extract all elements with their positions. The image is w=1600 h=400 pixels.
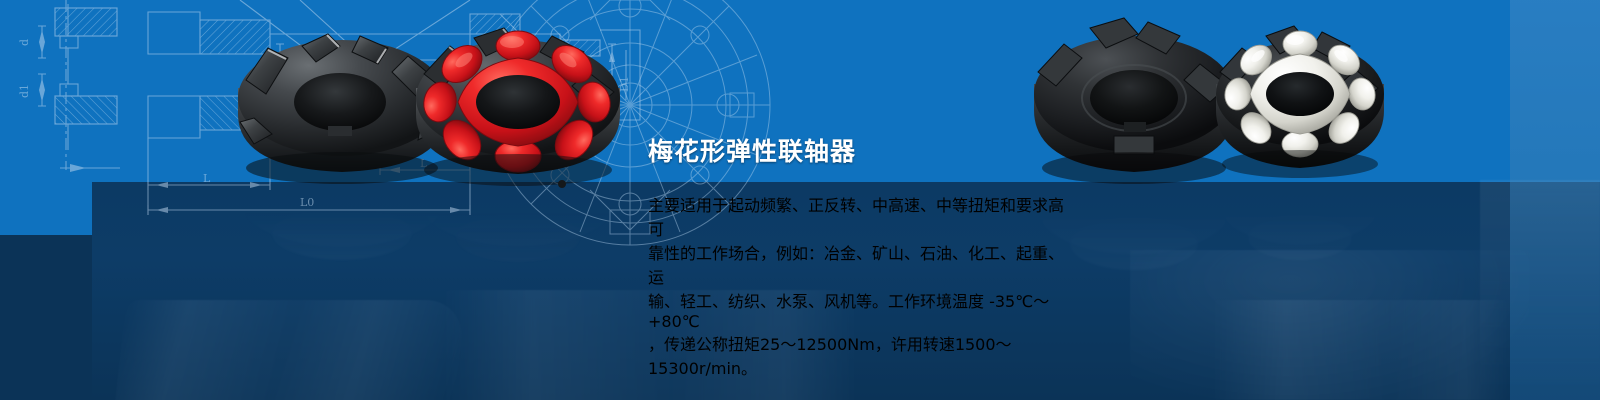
reflection-red-coupling <box>412 184 624 304</box>
svg-text:d1: d1 <box>18 84 31 98</box>
description-line-1: 主要适用于起动频繁、正反转、中高速、中等扭矩和要求高可 <box>648 192 1068 240</box>
description-line-2: 靠性的工作场合，例如：冶金、矿山、石油、化工、起重、运 <box>648 240 1068 288</box>
reflection-white-coupling <box>1210 184 1390 304</box>
ghost-machinery-image-5 <box>1480 180 1600 400</box>
product-banner: d d1 D D1 L L L0 <box>0 0 1600 400</box>
ghost-machinery-image-1 <box>114 300 466 400</box>
description-line-3: 输、轻工、纺织、水泵、风机等。工作环境温度 -35℃～+80℃ <box>648 288 1068 331</box>
banner-text-block: 梅花形弹性联轴器 主要适用于起动频繁、正反转、中高速、中等扭矩和要求高可 靠性的… <box>648 138 1068 395</box>
svg-text:d: d <box>18 39 31 46</box>
ghost-machinery-image-4 <box>1210 300 1510 400</box>
page-title: 梅花形弹性联轴器 <box>648 138 1068 166</box>
description-line-4: ，传递公称扭矩25～12500Nm，许用转速1500～15300r/min。 <box>648 331 1068 379</box>
jaw-coupling-white-spider <box>1210 18 1390 198</box>
svg-text:L: L <box>203 172 211 185</box>
